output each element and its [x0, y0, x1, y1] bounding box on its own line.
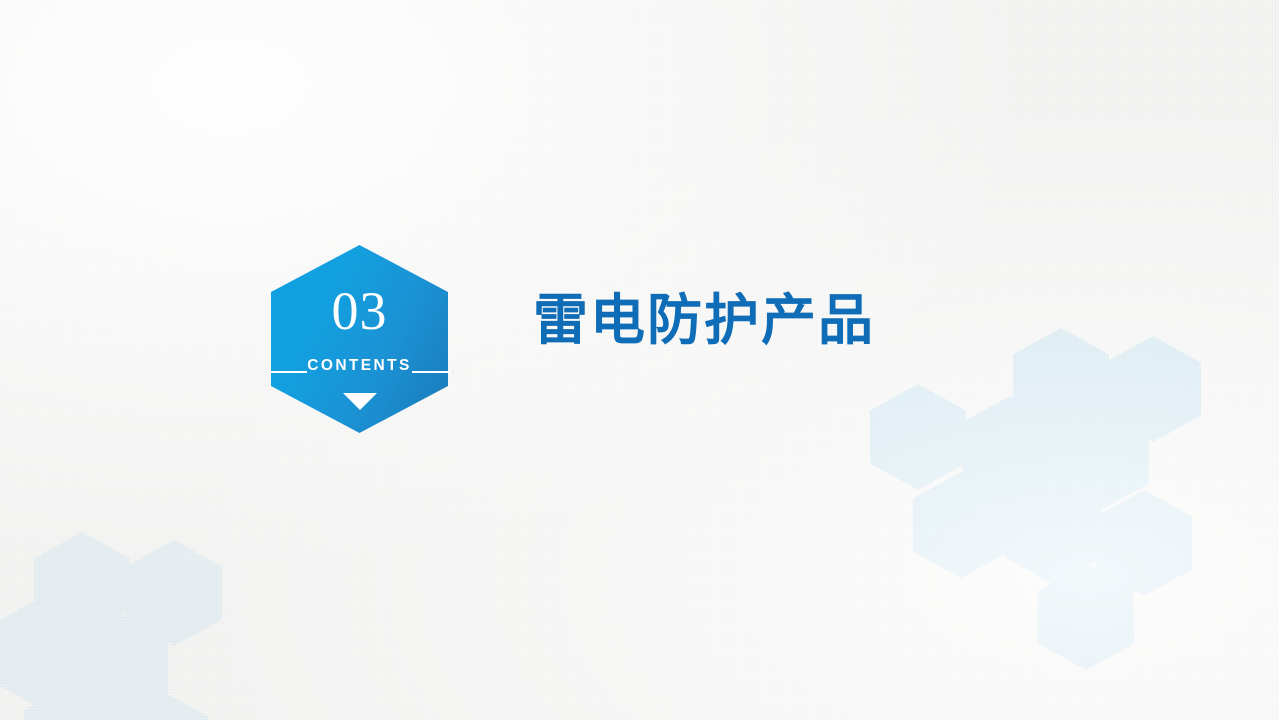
contents-rule-left: [267, 371, 307, 373]
presentation-slide: 03 CONTENTS 雷电防护产品: [0, 0, 1279, 720]
honeycomb-decoration-right: [0, 0, 1279, 720]
decor-right-hexagon: [870, 384, 966, 490]
section-number: 03: [271, 282, 448, 340]
contents-rule-right: [412, 371, 452, 373]
section-number-badge: 03 CONTENTS: [271, 245, 448, 433]
triangle-down-icon: [343, 393, 377, 410]
page-title: 雷电防护产品: [533, 288, 875, 352]
